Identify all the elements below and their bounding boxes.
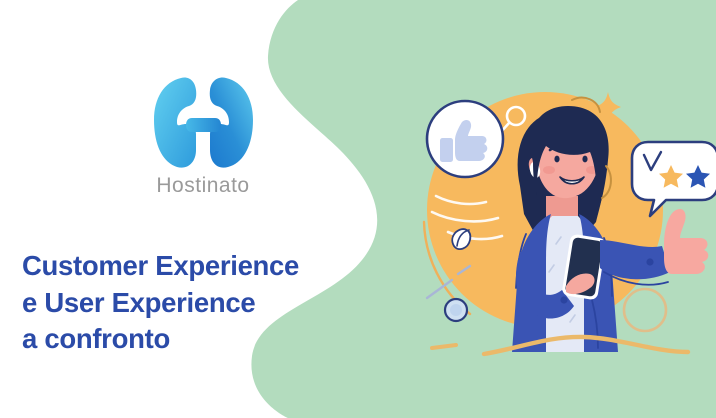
brand-wordmark: Hostinato bbox=[118, 174, 288, 198]
small-dot-inner bbox=[450, 304, 462, 316]
headline-line-2: e User Experience bbox=[22, 285, 372, 322]
right-arm-shape bbox=[600, 240, 670, 279]
ground-wave-dash bbox=[432, 345, 456, 348]
brand-logo-block[interactable]: Hostinato bbox=[118, 72, 288, 198]
left-cuff-button bbox=[560, 296, 567, 303]
banner-canvas: Hostinato Customer Experience e User Exp… bbox=[0, 0, 716, 418]
ring-circle-decoration bbox=[624, 289, 666, 331]
thumbs-up-hand-icon bbox=[664, 209, 708, 274]
leaf-decoration bbox=[452, 229, 470, 249]
headline-line-3: a confronto bbox=[22, 321, 372, 358]
hostinato-h-logo-icon[interactable] bbox=[148, 72, 258, 172]
page-title: Customer Experience e User Experience a … bbox=[22, 248, 372, 358]
headline-line-1: Customer Experience bbox=[22, 248, 372, 285]
right-cuff-button bbox=[646, 258, 653, 265]
